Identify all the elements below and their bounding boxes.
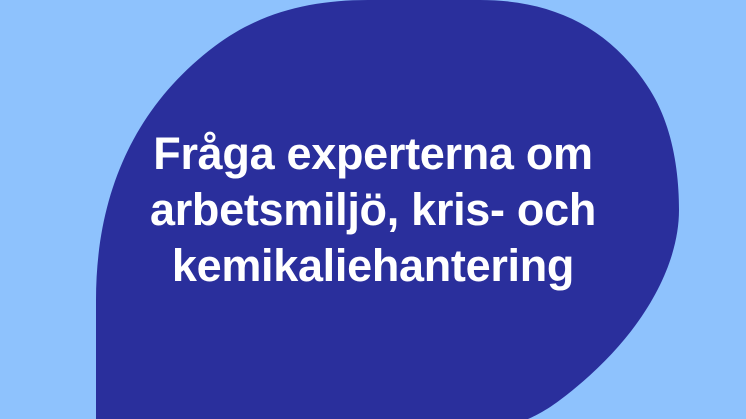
promo-banner: Fråga experterna om arbetsmiljö, kris- o… (0, 0, 746, 419)
background-blob-shape (0, 0, 746, 419)
